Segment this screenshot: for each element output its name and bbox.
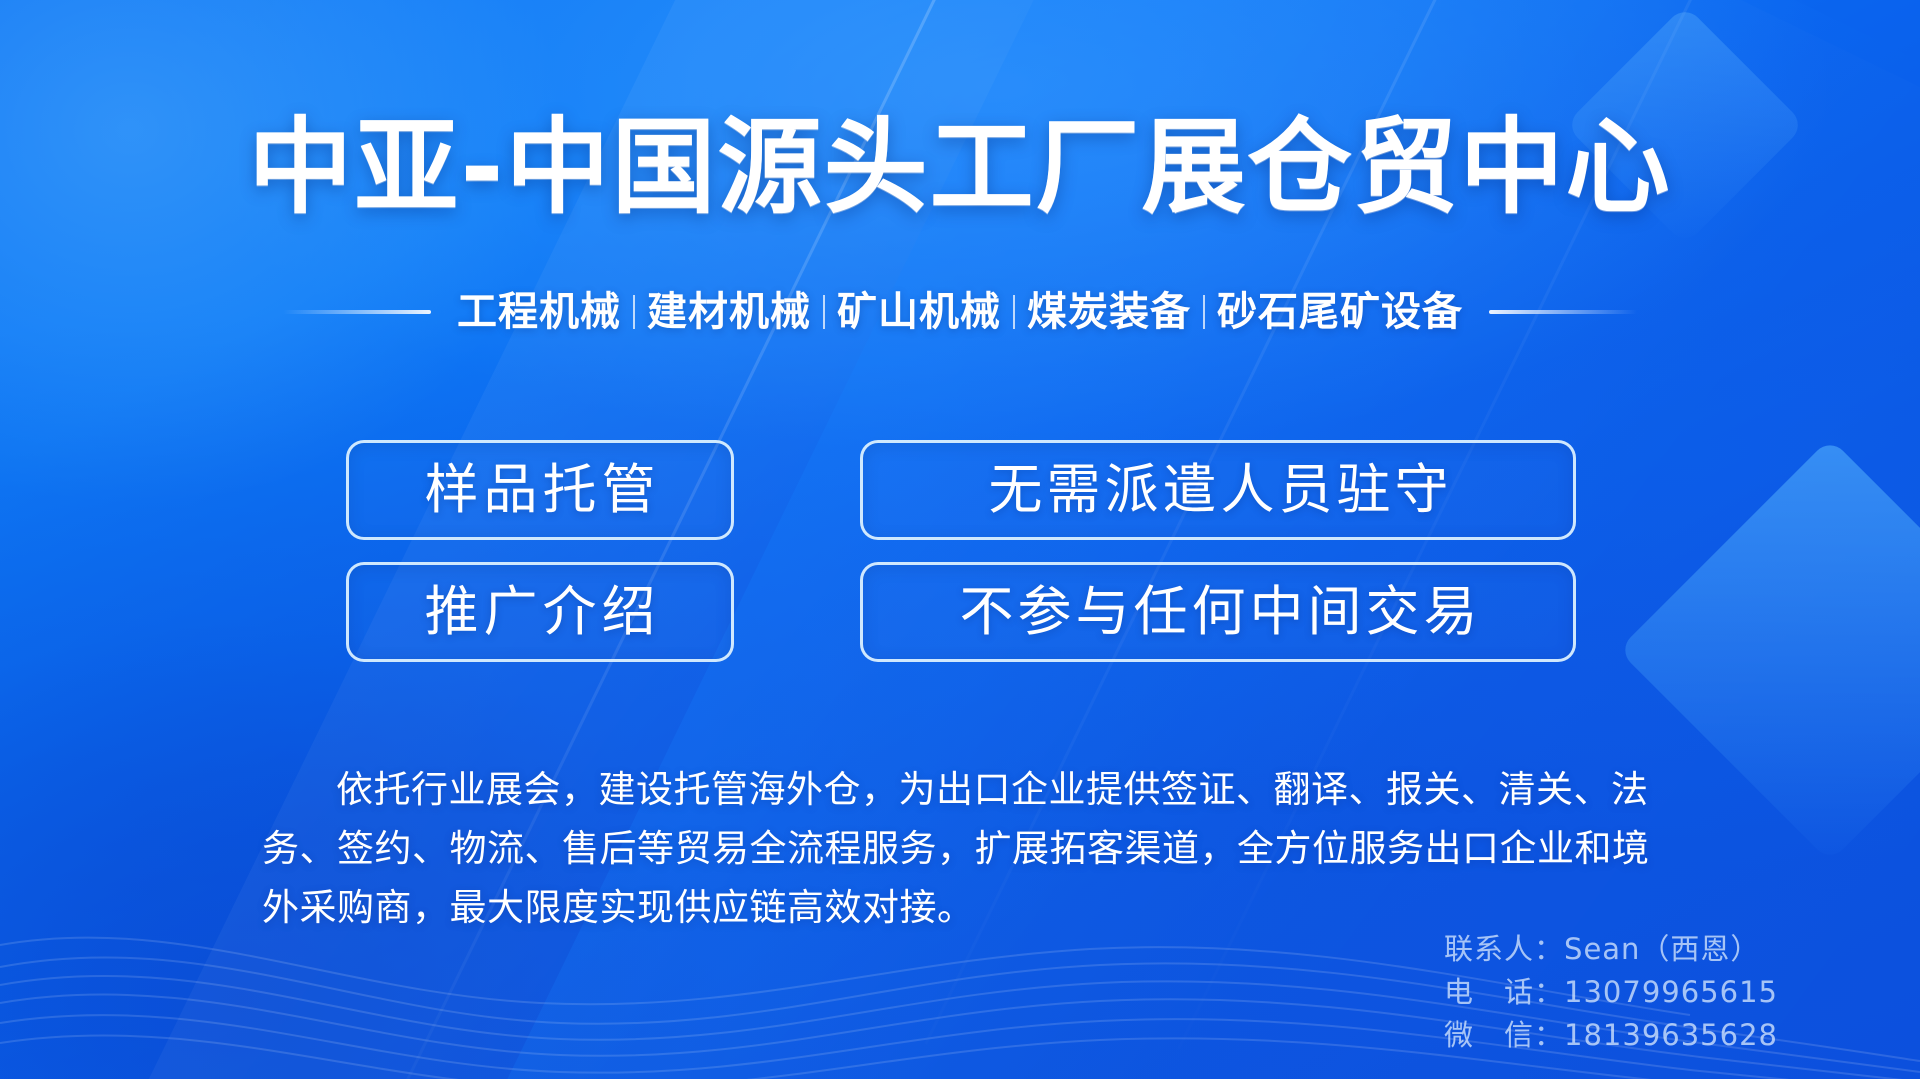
subtitle-item-3: 煤炭装备 (1027, 288, 1191, 336)
rule-right-decoration (1489, 310, 1637, 314)
subtitle-separator-icon (1013, 295, 1015, 329)
feature-pill-label: 推广介绍 (420, 581, 661, 643)
feature-pill-label: 不参与任何中间交易 (955, 581, 1482, 643)
subtitle-item-4: 砂石尾矿设备 (1217, 288, 1463, 336)
contact-wechat-line: 微 信：18139635628 (1444, 1014, 1778, 1057)
subtitle-item-2: 矿山机械 (837, 288, 1001, 336)
feature-pill-label: 无需派遣人员驻守 (984, 459, 1453, 521)
rule-left-decoration (283, 310, 431, 314)
feature-pill-promotion-intro[interactable]: 推广介绍 (346, 562, 734, 662)
feature-pill-sample-custody[interactable]: 样品托管 (346, 440, 734, 540)
contact-phone-line: 电 话：13079965615 (1444, 971, 1778, 1014)
subtitle-row: 工程机械 建材机械 矿山机械 煤炭装备 砂石尾矿设备 (0, 288, 1920, 336)
subtitle-item-1: 建材机械 (647, 288, 811, 336)
contact-person-line: 联系人：Sean（西恩） (1444, 928, 1778, 971)
poster-content: 中亚-中国源头工厂展仓贸中心 工程机械 建材机械 矿山机械 煤炭装备 砂石尾矿设… (0, 0, 1920, 1079)
feature-pill-no-staff-needed[interactable]: 无需派遣人员驻守 (860, 440, 1576, 540)
subtitle-separator-icon (823, 295, 825, 329)
subtitle-categories: 工程机械 建材机械 矿山机械 煤炭装备 砂石尾矿设备 (457, 288, 1463, 336)
page-title: 中亚-中国源头工厂展仓贸中心 (0, 108, 1920, 226)
feature-pill-no-intermediary-trade[interactable]: 不参与任何中间交易 (860, 562, 1576, 662)
subtitle-separator-icon (1203, 295, 1205, 329)
feature-pill-grid: 样品托管 无需派遣人员驻守 推广介绍 不参与任何中间交易 (346, 440, 1576, 662)
poster-canvas: 中亚-中国源头工厂展仓贸中心 工程机械 建材机械 矿山机械 煤炭装备 砂石尾矿设… (0, 0, 1920, 1079)
subtitle-item-0: 工程机械 (457, 288, 621, 336)
feature-pill-label: 样品托管 (420, 459, 661, 521)
subtitle-separator-icon (633, 295, 635, 329)
contact-block: 联系人：Sean（西恩） 电 话：13079965615 微 信：1813963… (1444, 928, 1778, 1057)
description-paragraph: 依托行业展会，建设托管海外仓，为出口企业提供签证、翻译、报关、清关、法务、签约、… (262, 760, 1682, 937)
